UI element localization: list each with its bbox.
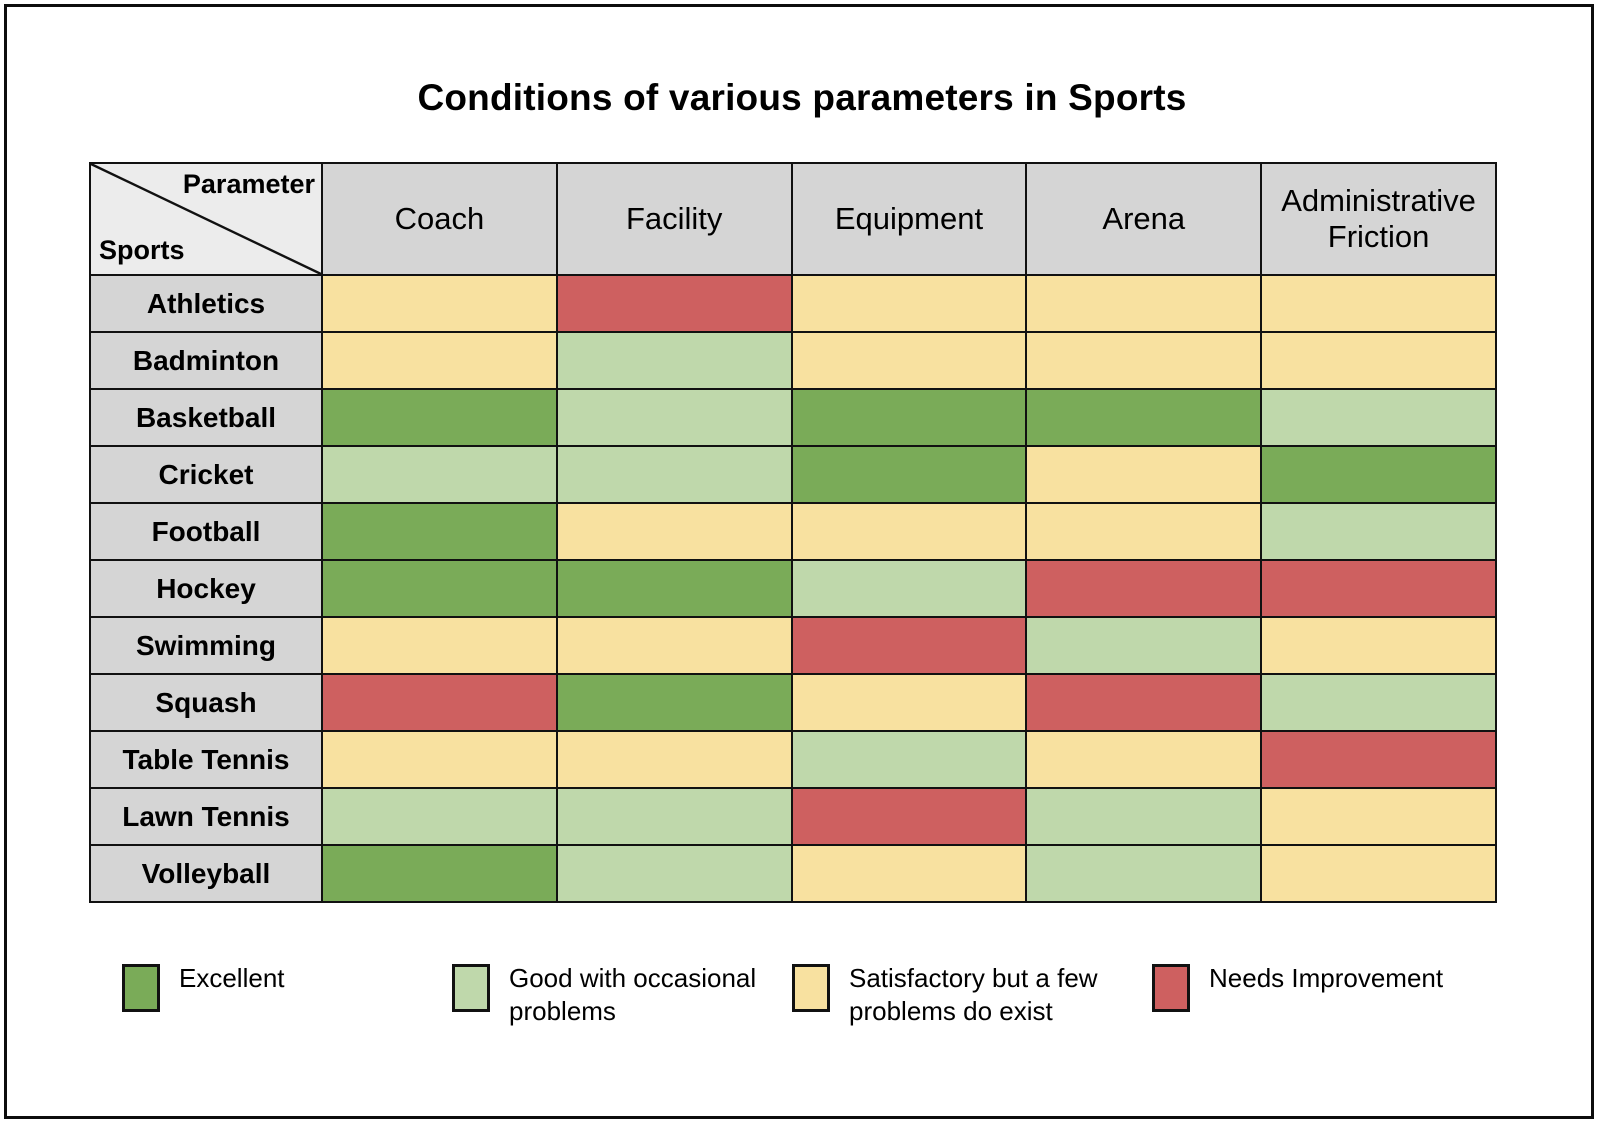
cell-table-tennis-equipment [792, 731, 1027, 788]
cell-basketball-facility [557, 389, 792, 446]
cell-table-tennis-administrative-friction [1261, 731, 1496, 788]
cell-swimming-coach [322, 617, 557, 674]
cell-cricket-administrative-friction [1261, 446, 1496, 503]
table-row: Football [90, 503, 1496, 560]
cell-volleyball-facility [557, 845, 792, 902]
cell-table-tennis-coach [322, 731, 557, 788]
legend-item-excellent: Excellent [122, 962, 452, 1012]
row-header-basketball: Basketball [90, 389, 322, 446]
cell-volleyball-arena [1026, 845, 1261, 902]
cell-cricket-facility [557, 446, 792, 503]
row-header-hockey: Hockey [90, 560, 322, 617]
legend-item-satisfactory: Satisfactory but a few problems do exist [792, 962, 1152, 1029]
cell-athletics-facility [557, 275, 792, 332]
table-row: Lawn Tennis [90, 788, 1496, 845]
cell-badminton-administrative-friction [1261, 332, 1496, 389]
cell-hockey-facility [557, 560, 792, 617]
cell-cricket-arena [1026, 446, 1261, 503]
row-header-swimming: Swimming [90, 617, 322, 674]
cell-volleyball-administrative-friction [1261, 845, 1496, 902]
column-header-coach: Coach [322, 163, 557, 275]
column-header-administrative-friction: Administrative Friction [1261, 163, 1496, 275]
figure-frame: Conditions of various parameters in Spor… [4, 4, 1594, 1119]
row-header-table-tennis: Table Tennis [90, 731, 322, 788]
table-row: Cricket [90, 446, 1496, 503]
corner-label-sports: Sports [99, 236, 185, 266]
table-row: Table Tennis [90, 731, 1496, 788]
row-header-cricket: Cricket [90, 446, 322, 503]
legend-label-needs-improvement: Needs Improvement [1209, 962, 1443, 995]
table-row: Badminton [90, 332, 1496, 389]
table-row: Swimming [90, 617, 1496, 674]
legend-label-satisfactory: Satisfactory but a few problems do exist [849, 962, 1119, 1029]
column-header-arena: Arena [1026, 163, 1261, 275]
cell-squash-arena [1026, 674, 1261, 731]
legend-label-excellent: Excellent [179, 962, 285, 995]
cell-hockey-coach [322, 560, 557, 617]
cell-athletics-equipment [792, 275, 1027, 332]
row-header-athletics: Athletics [90, 275, 322, 332]
cell-hockey-administrative-friction [1261, 560, 1496, 617]
cell-basketball-arena [1026, 389, 1261, 446]
legend-swatch-good [452, 964, 490, 1012]
table-row: Basketball [90, 389, 1496, 446]
cell-badminton-facility [557, 332, 792, 389]
conditions-matrix: Parameter Sports Coach Facility Equipmen… [89, 162, 1497, 903]
legend-swatch-excellent [122, 964, 160, 1012]
table-row: Athletics [90, 275, 1496, 332]
legend-swatch-satisfactory [792, 964, 830, 1012]
column-header-equipment: Equipment [792, 163, 1027, 275]
cell-squash-administrative-friction [1261, 674, 1496, 731]
cell-hockey-equipment [792, 560, 1027, 617]
legend: Excellent Good with occasional problems … [122, 962, 1522, 1029]
cell-swimming-facility [557, 617, 792, 674]
table-row: Hockey [90, 560, 1496, 617]
cell-swimming-arena [1026, 617, 1261, 674]
cell-squash-facility [557, 674, 792, 731]
row-header-volleyball: Volleyball [90, 845, 322, 902]
cell-lawn-tennis-coach [322, 788, 557, 845]
cell-badminton-arena [1026, 332, 1261, 389]
cell-football-administrative-friction [1261, 503, 1496, 560]
cell-table-tennis-arena [1026, 731, 1261, 788]
cell-football-coach [322, 503, 557, 560]
cell-basketball-administrative-friction [1261, 389, 1496, 446]
legend-swatch-needs-improvement [1152, 964, 1190, 1012]
cell-badminton-equipment [792, 332, 1027, 389]
cell-volleyball-equipment [792, 845, 1027, 902]
header-row: Parameter Sports Coach Facility Equipmen… [90, 163, 1496, 275]
cell-basketball-equipment [792, 389, 1027, 446]
legend-item-needs-improvement: Needs Improvement [1152, 962, 1452, 1012]
row-header-lawn-tennis: Lawn Tennis [90, 788, 322, 845]
cell-athletics-administrative-friction [1261, 275, 1496, 332]
cell-swimming-equipment [792, 617, 1027, 674]
cell-hockey-arena [1026, 560, 1261, 617]
cell-squash-equipment [792, 674, 1027, 731]
table-row: Volleyball [90, 845, 1496, 902]
cell-lawn-tennis-administrative-friction [1261, 788, 1496, 845]
cell-table-tennis-facility [557, 731, 792, 788]
corner-header-cell: Parameter Sports [90, 163, 322, 275]
page-title: Conditions of various parameters in Spor… [7, 77, 1597, 119]
cell-badminton-coach [322, 332, 557, 389]
cell-lawn-tennis-arena [1026, 788, 1261, 845]
column-header-facility: Facility [557, 163, 792, 275]
cell-squash-coach [322, 674, 557, 731]
row-header-football: Football [90, 503, 322, 560]
cell-lawn-tennis-equipment [792, 788, 1027, 845]
corner-label-parameter: Parameter [183, 170, 315, 200]
cell-football-facility [557, 503, 792, 560]
cell-volleyball-coach [322, 845, 557, 902]
cell-athletics-arena [1026, 275, 1261, 332]
cell-swimming-administrative-friction [1261, 617, 1496, 674]
cell-football-equipment [792, 503, 1027, 560]
legend-item-good: Good with occasional problems [452, 962, 792, 1029]
cell-basketball-coach [322, 389, 557, 446]
cell-cricket-equipment [792, 446, 1027, 503]
table-row: Squash [90, 674, 1496, 731]
matrix-header: Parameter Sports Coach Facility Equipmen… [90, 163, 1496, 275]
row-header-squash: Squash [90, 674, 322, 731]
cell-cricket-coach [322, 446, 557, 503]
matrix-body: AthleticsBadmintonBasketballCricketFootb… [90, 275, 1496, 902]
cell-athletics-coach [322, 275, 557, 332]
cell-lawn-tennis-facility [557, 788, 792, 845]
legend-label-good: Good with occasional problems [509, 962, 779, 1029]
row-header-badminton: Badminton [90, 332, 322, 389]
cell-football-arena [1026, 503, 1261, 560]
